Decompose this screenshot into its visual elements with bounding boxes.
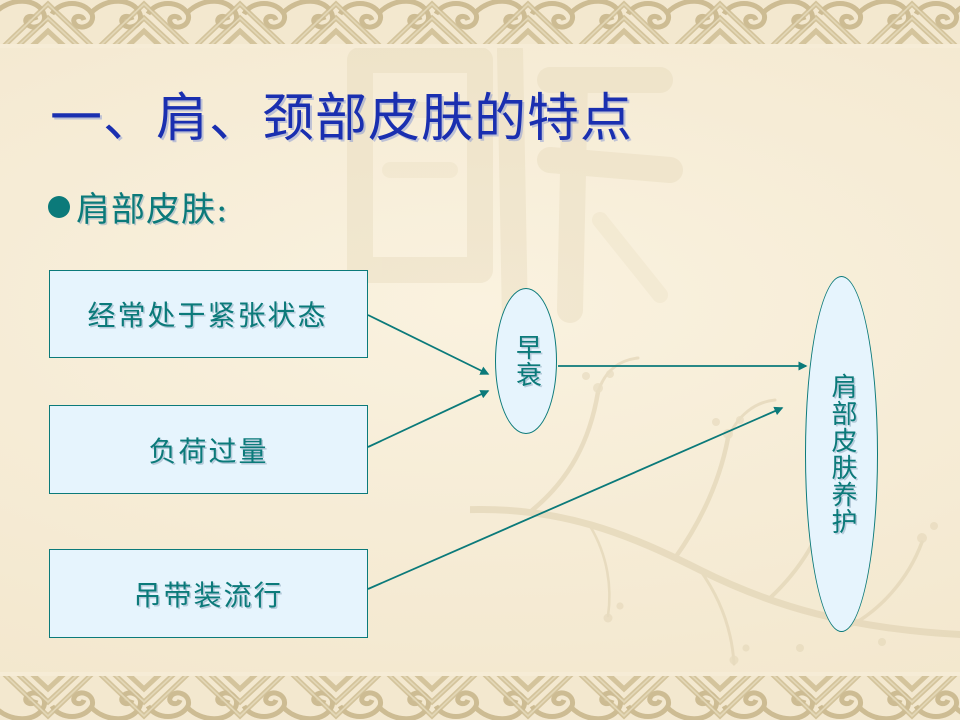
arrow-box1-to-early-aging: [368, 315, 488, 374]
cause-box-3[interactable]: 吊带装流行: [49, 549, 368, 638]
arrow-box3-to-result: [368, 408, 782, 589]
cause-box-2-label: 负荷过量: [148, 430, 268, 470]
intermediate-ellipse-label: 早衰: [508, 334, 543, 388]
arrow-box2-to-early-aging: [368, 391, 488, 447]
cause-box-1-label: 经常处于紧张状态: [87, 294, 329, 334]
intermediate-ellipse-early-aging[interactable]: 早衰: [495, 288, 557, 434]
slide-canvas: 一、肩、颈部皮肤的特点 肩部皮肤: 经常处于紧张状态 负荷过量: [0, 0, 960, 720]
result-ellipse-label: 肩部皮肤养护: [824, 373, 859, 535]
cause-box-2[interactable]: 负荷过量: [49, 405, 368, 494]
cause-box-3-label: 吊带装流行: [133, 574, 283, 614]
cause-box-1[interactable]: 经常处于紧张状态: [49, 270, 368, 358]
diagram: 经常处于紧张状态 负荷过量 吊带装流行 早衰 肩部皮肤养护: [0, 0, 960, 720]
result-ellipse-shoulder-skin-care[interactable]: 肩部皮肤养护: [805, 276, 878, 632]
